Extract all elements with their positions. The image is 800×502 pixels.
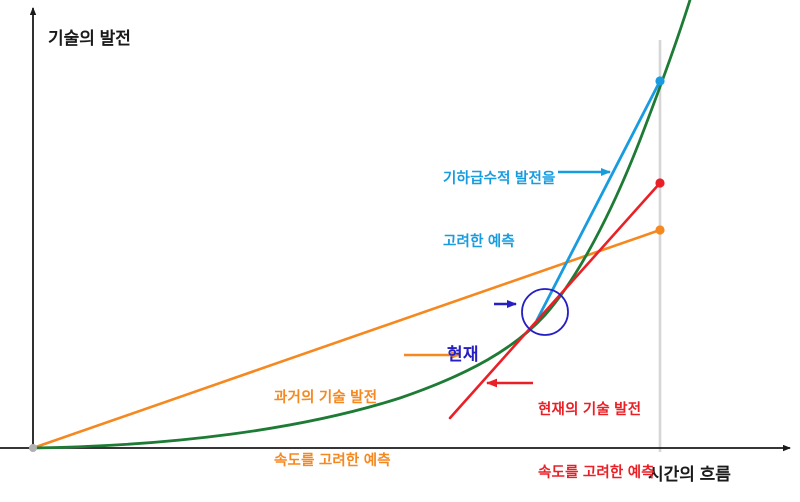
annotation-past-rate-forecast-line1: 과거의 기술 발전 bbox=[274, 388, 391, 409]
annotation-past-rate-forecast: 과거의 기술 발전 속도를 고려한 예측 bbox=[274, 346, 391, 502]
annotation-current-rate-forecast-line1: 현재의 기술 발전 bbox=[538, 400, 655, 421]
blue-endpoint-dot bbox=[655, 76, 664, 85]
annotation-exponential-forecast-line1: 기하급수적 발전을 bbox=[443, 169, 556, 190]
x-axis-label: 시간의 흐름 bbox=[648, 460, 731, 485]
annotation-exponential-forecast-line2: 고려한 예측 bbox=[443, 232, 556, 253]
annotation-present-marker-line1: 현재 bbox=[447, 343, 479, 368]
annotation-exponential-forecast: 기하급수적 발전을 고려한 예측 bbox=[443, 127, 556, 295]
annotation-current-rate-forecast-line2: 속도를 고려한 예측 bbox=[538, 463, 655, 484]
annotation-present-marker: 현재 bbox=[447, 294, 479, 417]
orange-endpoint-dot bbox=[655, 225, 664, 234]
chart-plot-area bbox=[0, 0, 800, 502]
y-axis-label: 기술의 발전 bbox=[48, 24, 131, 49]
red-endpoint-dot bbox=[655, 178, 664, 187]
origin-dot bbox=[29, 444, 37, 452]
chart-canvas: 기술의 발전 시간의 흐름 기하급수적 발전을 고려한 예측 과거의 기술 발전… bbox=[0, 0, 800, 502]
annotation-current-rate-forecast: 현재의 기술 발전 속도를 고려한 예측 bbox=[538, 358, 655, 502]
annotation-past-rate-forecast-line2: 속도를 고려한 예측 bbox=[274, 451, 391, 472]
